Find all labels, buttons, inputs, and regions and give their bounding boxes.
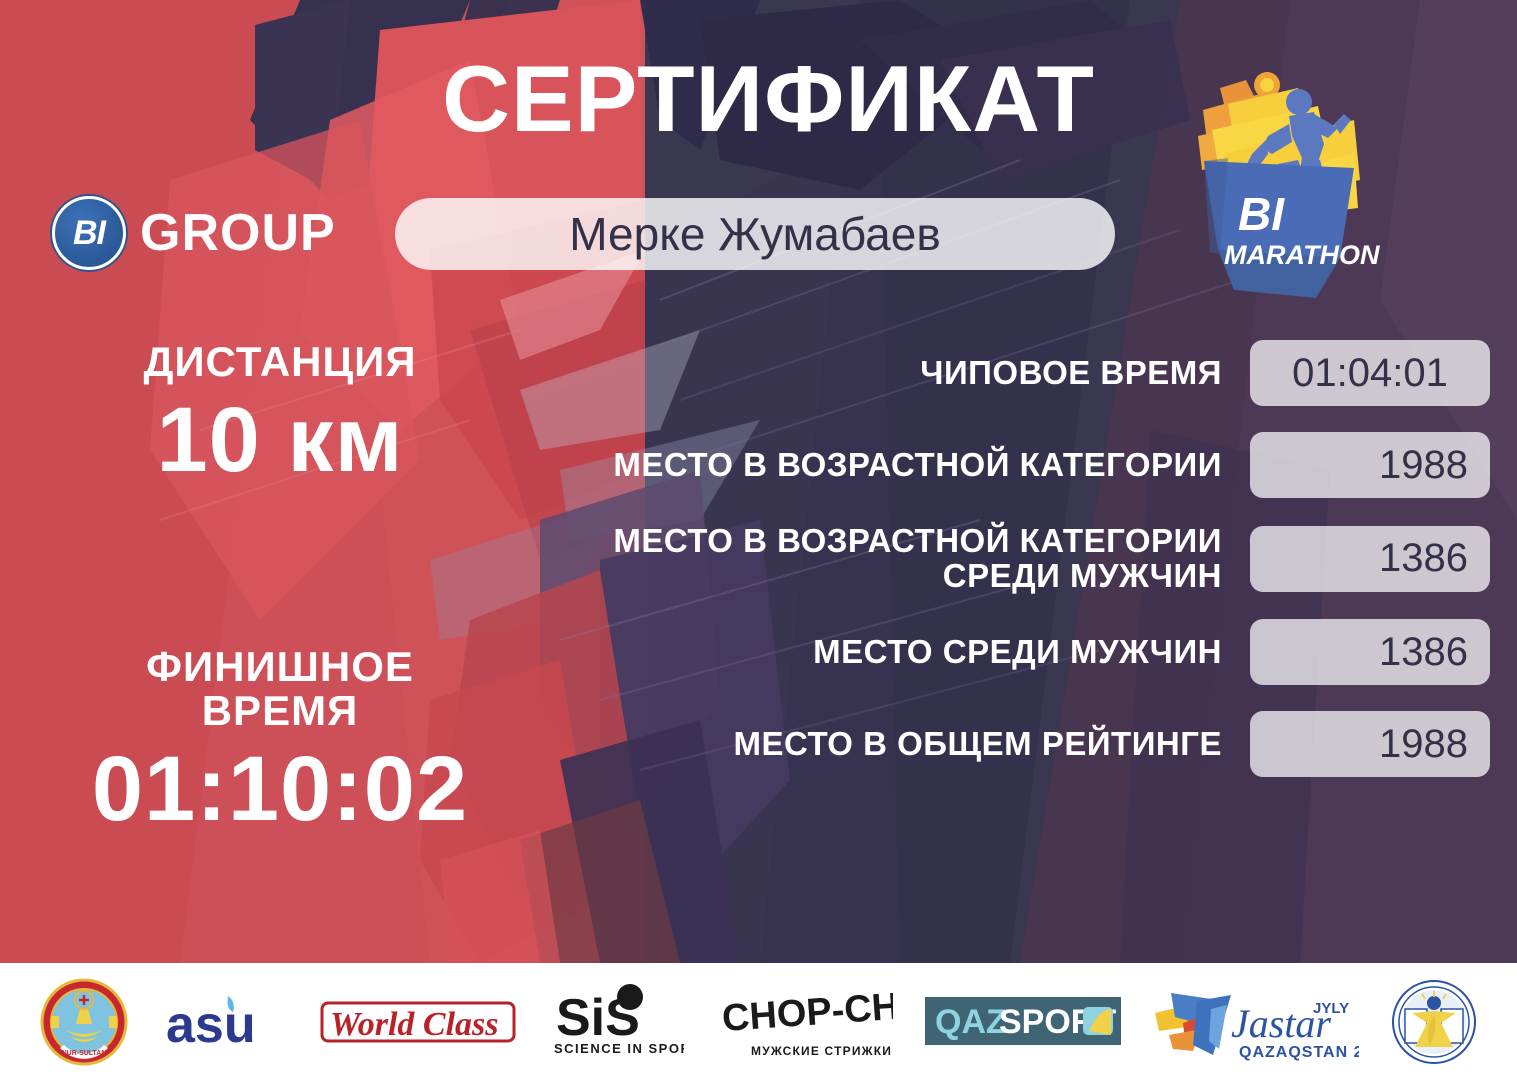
page-title-text: СЕРТИФИКАТ [442, 52, 1095, 146]
world-class-logo-icon: World Class [320, 991, 516, 1053]
participant-name-pill: Мерке Жумабаев [395, 198, 1115, 270]
participant-name: Мерке Жумабаев [569, 207, 941, 261]
chop-chop-label: CHOP-CHOP [721, 983, 893, 1040]
result-value: 1386 [1250, 619, 1490, 685]
result-label: ЧИПОВОЕ ВРЕМЯ [560, 356, 1250, 391]
result-label: МЕСТО СРЕДИ МУЖЧИН [560, 635, 1250, 670]
sponsor-chop-chop: CHOP-CHOP МУЖСКИЕ СТРИЖКИ [715, 976, 893, 1068]
jastar-sup: JYLY [1313, 1000, 1349, 1017]
world-class-label: World Class [330, 1006, 498, 1043]
sponsor-bar: NUR-SULTAN asu World Class SiS SCIENCE I… [0, 963, 1517, 1080]
distance-label: ДИСТАНЦИЯ [0, 340, 560, 384]
marathon-logo-bi: BI [1238, 188, 1285, 240]
results-list: ЧИПОВОЕ ВРЕМЯ 01:04:01 МЕСТО В ВОЗРАСТНО… [560, 340, 1490, 799]
nur-sultan-label: NUR-SULTAN [62, 1050, 107, 1057]
sponsor-asu: asu [160, 976, 288, 1068]
bi-badge-icon: BI [52, 196, 126, 270]
finish-time-block: ФИНИШНОЕ ВРЕМЯ 01:10:02 [0, 645, 560, 838]
jastar-sub: QAZAQSTAN 2019 [1239, 1044, 1359, 1061]
nur-sultan-emblem-icon: NUR-SULTAN [40, 978, 128, 1066]
chop-chop-logo-icon: CHOP-CHOP МУЖСКИЕ СТРИЖКИ [715, 983, 893, 1061]
result-row-among-men: МЕСТО СРЕДИ МУЖЧИН 1386 [560, 619, 1490, 685]
qazsport-logo-icon: QAZ SPORT [925, 993, 1121, 1051]
jastar-logo-icon: Jastar JYLY QAZAQSTAN 2019 [1153, 979, 1359, 1065]
result-row-age-category: МЕСТО В ВОЗРАСТНОЙ КАТЕГОРИИ 1988 [560, 432, 1490, 498]
distance-block: ДИСТАНЦИЯ 10 км [0, 340, 560, 489]
finish-time-label-line1: ФИНИШНОЕ [0, 645, 560, 689]
sis-logo-icon: SiS SCIENCE IN SPORT [548, 983, 684, 1061]
result-row-overall: МЕСТО В ОБЩЕМ РЕЙТИНГЕ 1988 [560, 711, 1490, 777]
sponsor-ministry: ҚАЗАҚСТАН РЕСПУБЛИКАСЫНЫҢ МӘДЕНИЕТ ЖӘНЕ … [1391, 976, 1477, 1068]
bi-marathon-logo: BI MARATHON [1168, 58, 1384, 308]
marathon-logo-word: MARATHON [1224, 240, 1380, 270]
result-row-chip-time: ЧИПОВОЕ ВРЕМЯ 01:04:01 [560, 340, 1490, 406]
result-value: 01:04:01 [1250, 340, 1490, 406]
chop-chop-tagline: МУЖСКИЕ СТРИЖКИ [751, 1044, 892, 1058]
result-label: МЕСТО В ОБЩЕМ РЕЙТИНГЕ [560, 727, 1250, 762]
finish-time-label-line2: ВРЕМЯ [0, 689, 560, 733]
result-value: 1988 [1250, 432, 1490, 498]
sis-tagline: SCIENCE IN SPORT [554, 1041, 684, 1056]
sponsor-jastar: Jastar JYLY QAZAQSTAN 2019 [1153, 976, 1359, 1068]
sponsor-world-class: World Class [320, 976, 516, 1068]
asu-logo-icon: asu [160, 988, 288, 1056]
result-label: МЕСТО В ВОЗРАСТНОЙ КАТЕГОРИИ [560, 448, 1250, 483]
result-label: МЕСТО В ВОЗРАСТНОЙ КАТЕГОРИИ СРЕДИ МУЖЧИ… [560, 524, 1250, 593]
bi-group-label: GROUP [140, 203, 336, 263]
certificate-canvas: СЕРТИФИКАТ BI GROUP Мерке Жумабаев [0, 0, 1517, 1080]
sponsor-nur-sultan: NUR-SULTAN [40, 976, 128, 1068]
ministry-emblem-icon: ҚАЗАҚСТАН РЕСПУБЛИКАСЫНЫҢ МӘДЕНИЕТ ЖӘНЕ … [1391, 979, 1477, 1065]
bi-group-logo: BI GROUP [52, 196, 336, 270]
asu-label: asu [166, 996, 256, 1054]
result-value: 1988 [1250, 711, 1490, 777]
distance-value: 10 км [0, 392, 560, 489]
result-value: 1386 [1250, 526, 1490, 592]
finish-time-value: 01:10:02 [0, 741, 560, 838]
sis-label: SiS [556, 989, 640, 1047]
result-row-age-category-men: МЕСТО В ВОЗРАСТНОЙ КАТЕГОРИИ СРЕДИ МУЖЧИ… [560, 524, 1490, 593]
sponsor-qazsport: QAZ SPORT [925, 976, 1121, 1068]
qazsport-label-qaz: QAZ [935, 1003, 1007, 1041]
sponsor-sis: SiS SCIENCE IN SPORT [548, 976, 684, 1068]
